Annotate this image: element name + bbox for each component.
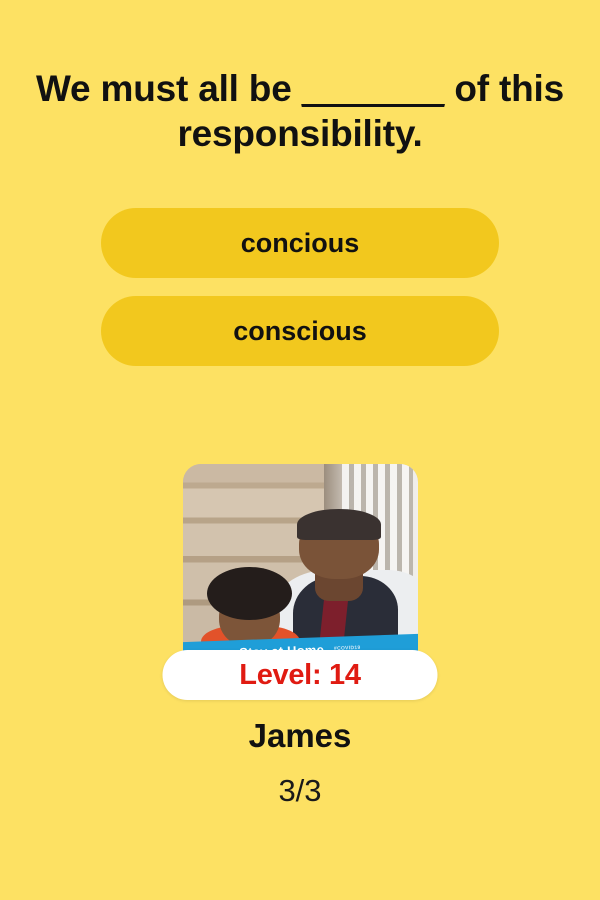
answer-option-2-label: conscious (233, 316, 367, 347)
level-badge-label: Level: 14 (239, 659, 360, 692)
progress-counter: 3/3 (278, 773, 321, 809)
level-badge: Level: 14 (163, 650, 438, 700)
question-blank: _______ (302, 68, 445, 109)
answer-options: concious conscious (101, 208, 499, 366)
adult-hair (297, 509, 380, 540)
quiz-screen: We must all be _______ of this responsib… (0, 0, 600, 900)
answer-option-1-label: concious (241, 228, 360, 259)
question-text: We must all be _______ of this responsib… (20, 66, 580, 156)
answer-option-1[interactable]: concious (101, 208, 499, 278)
question-prefix: We must all be (36, 68, 302, 109)
avatar-photo: Stay at Home #COVID19 (183, 464, 418, 669)
avatar-card-wrapper: Stay at Home #COVID19 Level: 14 (183, 464, 418, 669)
player-name: James (249, 717, 352, 755)
child-hair (207, 567, 292, 620)
answer-option-2[interactable]: conscious (101, 296, 499, 366)
